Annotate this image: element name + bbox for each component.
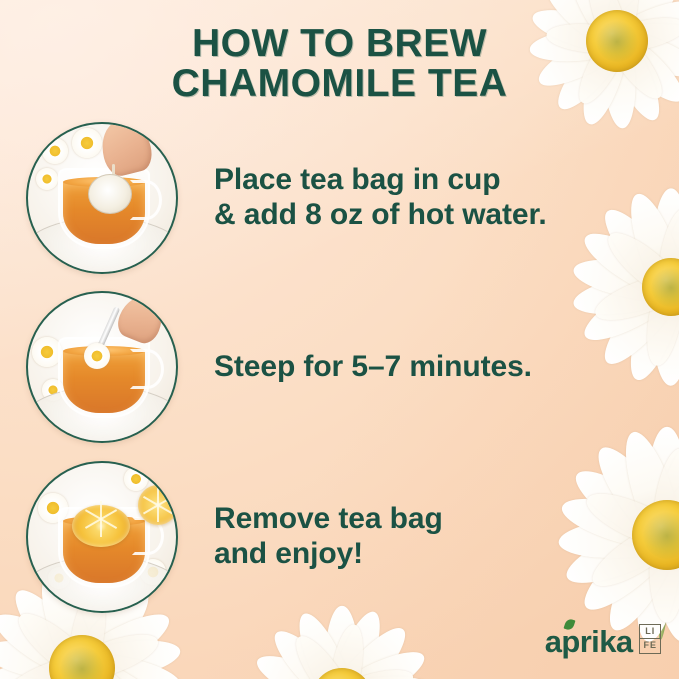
step-3-line-1: Remove tea bag — [214, 502, 443, 537]
tea-bag-dip-scene — [28, 124, 176, 272]
step-2-line-1: Steep for 5–7 minutes. — [214, 350, 532, 385]
lemon-slice-background — [138, 485, 178, 525]
step-1-line-1: Place tea bag in cup — [214, 163, 547, 198]
step-3-text: Remove tea bag and enjoy! — [214, 502, 443, 572]
logo-wordmark: aprika — [545, 626, 633, 657]
tea-bag — [88, 174, 132, 214]
step-1-photo — [26, 122, 178, 274]
chamomile-flower-icon — [84, 343, 110, 369]
title-line-2: CHAMOMILE TEA — [0, 64, 679, 104]
brand-logo[interactable]: aprika LI FE — [545, 624, 661, 657]
chamomile-flower-icon — [72, 128, 102, 158]
lemon-tea-scene — [28, 463, 176, 611]
lemon-slice — [72, 505, 130, 547]
step-3: Remove tea bag and enjoy! — [26, 461, 656, 613]
step-2: Steep for 5–7 minutes. — [26, 291, 656, 443]
step-1-text: Place tea bag in cup & add 8 oz of hot w… — [214, 163, 547, 233]
cup-handle — [130, 349, 164, 389]
step-3-line-2: and enjoy! — [214, 537, 443, 572]
page-title: HOW TO BREW CHAMOMILE TEA — [0, 24, 679, 104]
cup-handle — [130, 180, 162, 220]
logo-badge-top: LI — [640, 625, 660, 639]
poster-canvas: HOW TO BREW CHAMOMILE TEA Place tea bag — [0, 0, 679, 679]
step-1-line-2-pre: & add — [214, 198, 305, 231]
chamomile-flower-icon — [42, 138, 68, 164]
step-2-photo — [26, 291, 178, 443]
logo-word-text: aprika — [545, 624, 633, 659]
step-1-line-2: & add 8 oz of hot water. — [214, 198, 547, 233]
chamomile-flower-icon — [36, 168, 58, 190]
step-1-line-2-post: of hot water. — [363, 198, 547, 231]
title-line-1: HOW TO BREW — [0, 24, 679, 64]
step-1: Place tea bag in cup & add 8 oz of hot w… — [26, 122, 656, 274]
chamomile-flower-icon — [124, 467, 148, 491]
step-3-photo — [26, 461, 178, 613]
steeping-spoon-scene — [28, 293, 176, 441]
logo-badge-bottom: FE — [640, 639, 660, 653]
logo-life-badge: LI FE — [639, 624, 661, 654]
step-1-amount: 8 oz — [305, 198, 363, 231]
step-2-text: Steep for 5–7 minutes. — [214, 350, 532, 385]
